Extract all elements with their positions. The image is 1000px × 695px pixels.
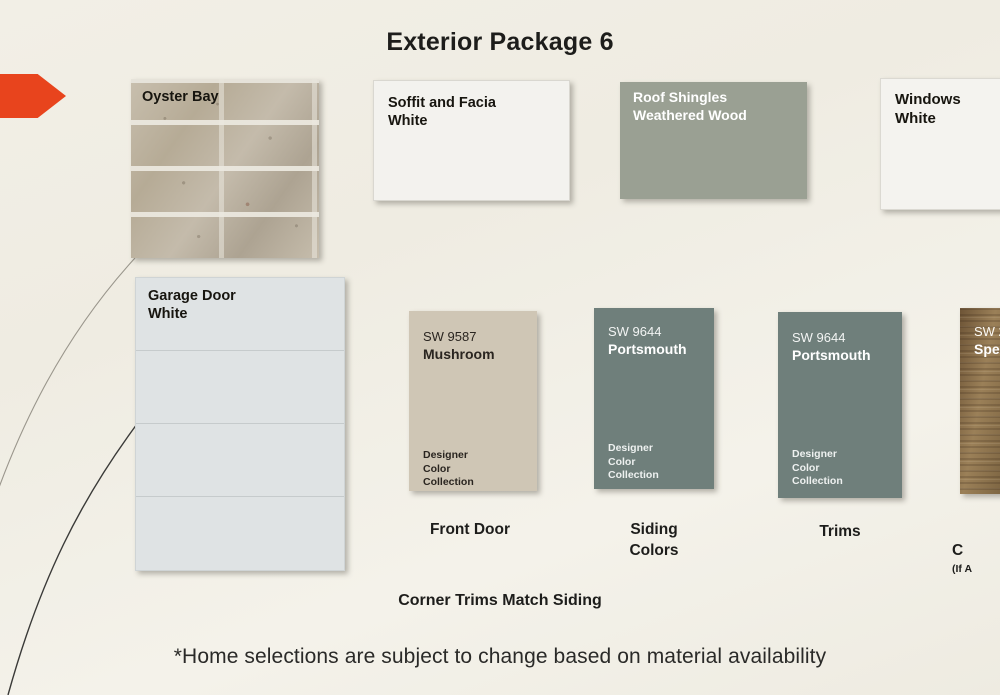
garage-panel-divider	[136, 423, 344, 424]
brick-swatch: Oyster Bay	[131, 79, 319, 258]
columns-chip-code: SW 2	[974, 323, 1000, 341]
front-door-chip-collection: Designer Color Collection	[423, 449, 474, 490]
siding-caption: Siding Colors	[578, 520, 730, 562]
soffit-facia-label: Soffit and Facia White	[388, 94, 496, 130]
trims-caption: Trims	[764, 522, 916, 543]
front-door-chip-code: SW 9587	[423, 328, 476, 346]
page-title: Exterior Package 6	[0, 28, 1000, 57]
garage-door-label: Garage Door White	[148, 287, 236, 323]
roof-shingles-label: Roof Shingles Weathered Wood	[633, 89, 747, 124]
front-door-chip-name: Mushroom	[423, 345, 495, 364]
columns-caption: C (If A	[952, 520, 1000, 597]
accent-arrow-icon	[0, 74, 66, 118]
garage-door-swatch: Garage Door White	[135, 277, 345, 571]
trims-chip: SW 9644 Portsmouth Designer Color Collec…	[778, 312, 902, 498]
siding-chip: SW 9644 Portsmouth Designer Color Collec…	[594, 308, 714, 489]
siding-chip-code: SW 9644	[608, 323, 661, 341]
columns-caption-main: C	[952, 542, 963, 559]
trims-chip-name: Portsmouth	[792, 346, 871, 365]
trims-chip-code: SW 9644	[792, 329, 845, 347]
trims-chip-collection: Designer Color Collection	[792, 448, 843, 489]
siding-chip-name: Portsmouth	[608, 340, 687, 359]
exterior-package-slide: Exterior Package 6 Oyster Bay Soffit and…	[0, 0, 1000, 695]
columns-caption-sub: (If A	[952, 562, 1000, 576]
windows-label: Windows White	[895, 91, 961, 129]
garage-panel-divider	[136, 350, 344, 351]
soffit-facia-swatch: Soffit and Facia White	[373, 80, 570, 201]
brick-swatch-label: Oyster Bay	[142, 88, 219, 106]
siding-chip-collection: Designer Color Collection	[608, 442, 659, 483]
front-door-caption: Front Door	[390, 520, 550, 541]
corner-trims-note: Corner Trims Match Siding	[0, 592, 1000, 610]
columns-chip-name: Spec	[974, 340, 1000, 359]
columns-chip: SW 2 Spec	[960, 308, 1000, 494]
garage-panel-divider	[136, 496, 344, 497]
front-door-chip: SW 9587 Mushroom Designer Color Collecti…	[409, 311, 537, 491]
roof-shingles-swatch: Roof Shingles Weathered Wood	[620, 82, 807, 199]
disclaimer-note: *Home selections are subject to change b…	[0, 645, 1000, 669]
windows-swatch: Windows White	[880, 78, 1000, 210]
